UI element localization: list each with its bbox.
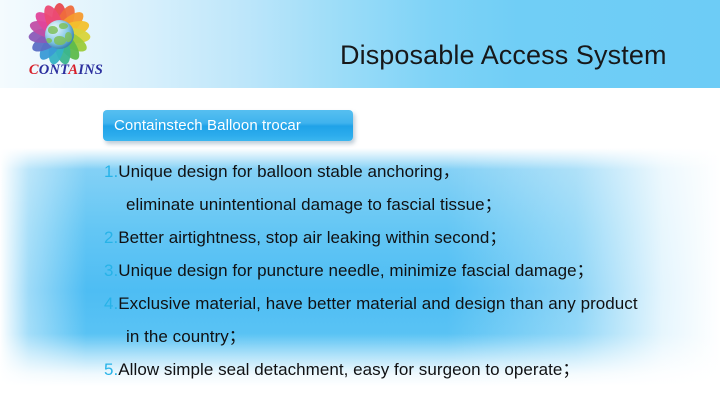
globe-icon bbox=[45, 20, 74, 49]
company-logo: CONTAINS bbox=[18, 2, 114, 86]
feature-list-item-text: eliminate unintentional damage to fascia… bbox=[104, 188, 502, 221]
content-panel: 1.Unique design for balloon stable ancho… bbox=[0, 148, 720, 386]
feature-list-item-number: 5. bbox=[104, 353, 118, 386]
section-banner: Containstech Balloon trocar bbox=[103, 110, 353, 141]
feature-list-item-text: Unique design for balloon stable anchori… bbox=[118, 155, 459, 188]
feature-list-item-number: 4. bbox=[104, 287, 118, 320]
feature-list-item-number: 3. bbox=[104, 254, 118, 287]
page-title: Disposable Access System bbox=[340, 38, 690, 72]
feature-list-item-text: Unique design for puncture needle, minim… bbox=[118, 254, 593, 287]
feature-list-item-text: Allow simple seal detachment, easy for s… bbox=[118, 353, 579, 386]
logo-wordmark: CONTAINS bbox=[18, 62, 114, 79]
feature-list-item-number: 2. bbox=[104, 221, 118, 254]
feature-list: 1.Unique design for balloon stable ancho… bbox=[104, 155, 704, 386]
feature-list-item-line: 2.Better airtightness, stop air leaking … bbox=[104, 221, 704, 254]
feature-list-item-line: eliminate unintentional damage to fascia… bbox=[104, 188, 704, 221]
flower-globe-icon bbox=[24, 2, 94, 66]
slide-canvas: CONTAINS Disposable Access System Contai… bbox=[0, 0, 720, 405]
slide-header-bar: CONTAINS Disposable Access System bbox=[0, 0, 720, 88]
feature-list-item-text: in the country； bbox=[104, 320, 246, 353]
feature-list-item-line: in the country； bbox=[104, 320, 704, 353]
section-banner-label: Containstech Balloon trocar bbox=[114, 114, 301, 137]
feature-list-item-line: 1.Unique design for balloon stable ancho… bbox=[104, 155, 704, 188]
feature-list-item-text: Exclusive material, have better material… bbox=[118, 287, 637, 320]
feature-list-item-line: 5. Allow simple seal detachment, easy fo… bbox=[104, 353, 704, 386]
feature-list-item-line: 4.Exclusive material, have better materi… bbox=[104, 287, 704, 320]
feature-list-item-number: 1. bbox=[104, 155, 118, 188]
feature-list-item-text: Better airtightness, stop air leaking wi… bbox=[118, 221, 506, 254]
feature-list-item-line: 3.Unique design for puncture needle, min… bbox=[104, 254, 704, 287]
